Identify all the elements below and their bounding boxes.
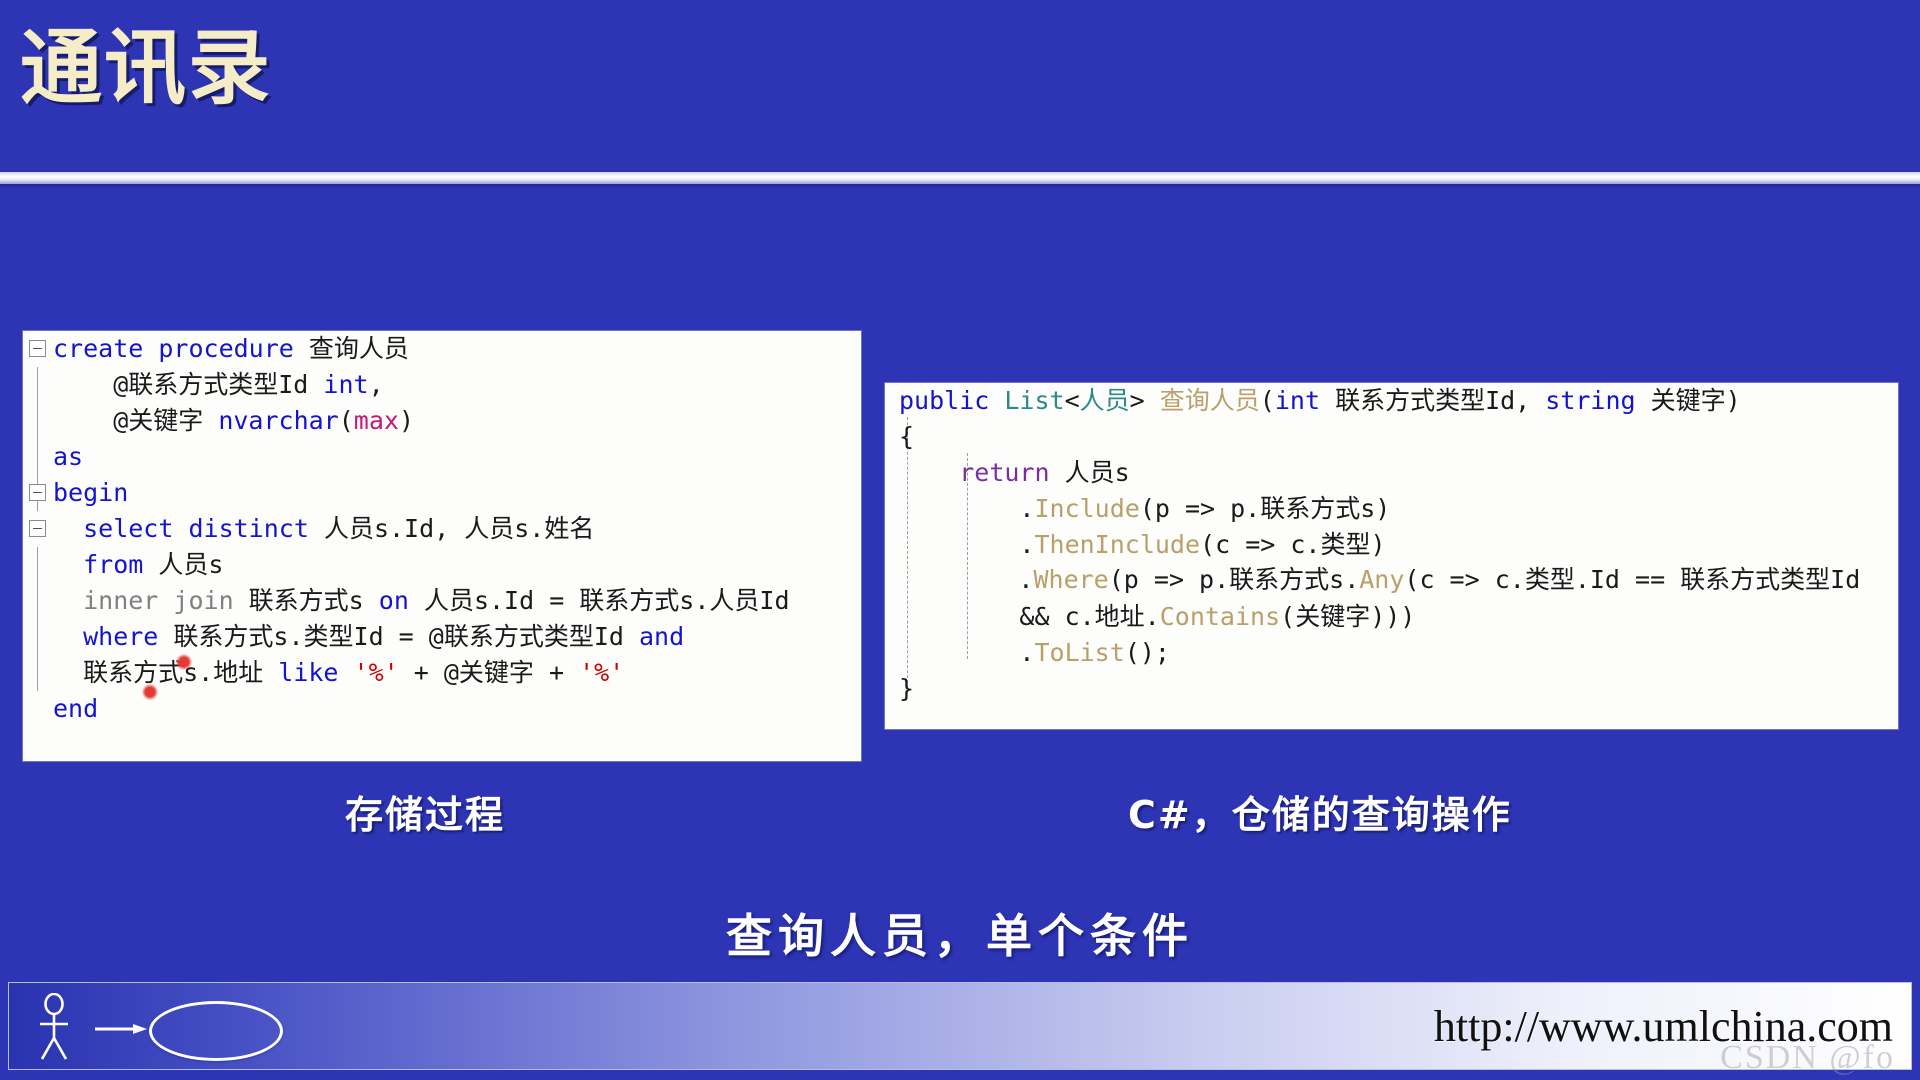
code-line: from 人员s [23, 547, 861, 583]
uml-actor-icon [31, 993, 91, 1061]
code-token: + @关键字 + [399, 658, 579, 687]
code-line: @联系方式类型Id int, [23, 367, 861, 403]
code-token: like [278, 658, 338, 687]
code-token: Contains [1160, 602, 1280, 631]
outline-guide-line [37, 583, 38, 619]
code-token: 人员 [1080, 386, 1130, 415]
outline-guide-line [37, 367, 38, 403]
code-token: (p => p.联系方式s) [1140, 494, 1391, 523]
code-token: (关键字))) [1280, 602, 1415, 631]
cursor-ink-mark [142, 684, 158, 700]
code-token: (c => c.类型.Id == 联系方式类型Id [1404, 565, 1860, 594]
code-token: 人员s.Id = 联系方式s.人员Id [409, 586, 790, 615]
code-token: max [354, 406, 399, 435]
code-line: .ThenInclude(c => c.类型) [885, 527, 1898, 563]
code-line: return 人员s [885, 455, 1898, 491]
code-token: (); [1125, 638, 1170, 667]
code-line: where 联系方式s.类型Id = @联系方式类型Id and [23, 619, 861, 655]
collapse-toggle-icon[interactable] [29, 520, 46, 537]
code-token: return [959, 458, 1049, 487]
code-token: 人员s [158, 550, 223, 579]
code-token: select distinct [53, 514, 324, 543]
code-token: 联系方式s [249, 586, 379, 615]
code-token: ) [399, 406, 414, 435]
outline-guide-line [37, 619, 38, 655]
code-token: 人员s.Id, 人员s.姓名 [324, 514, 594, 543]
code-line: .ToList(); [885, 635, 1898, 671]
code-token: string [1545, 386, 1635, 415]
code-token: 联系方式s.类型Id = @联系方式类型Id [158, 622, 639, 651]
code-token: . [898, 565, 1033, 594]
collapse-toggle-icon[interactable] [29, 340, 46, 357]
code-token: nvarchar [218, 406, 338, 435]
slide-subtitle: 查询人员，单个条件 [0, 900, 1920, 966]
code-token: begin [53, 478, 128, 507]
code-token: 联系方式类型Id, [1320, 386, 1545, 415]
code-token: 联系方式s.地址 [53, 658, 278, 687]
code-token: . [899, 530, 1034, 559]
code-token: Where [1033, 565, 1108, 594]
code-token: ( [1260, 386, 1275, 415]
code-line: begin [23, 475, 861, 511]
code-line: } [885, 671, 1898, 707]
code-token: on [379, 586, 409, 615]
code-token: end [53, 694, 98, 723]
code-line: inner join 联系方式s on 人员s.Id = 联系方式s.人员Id [23, 583, 861, 619]
association-arrow-icon [95, 1023, 147, 1035]
code-token: '%' [354, 658, 399, 687]
code-line: && c.地址.Contains(关键字))) [885, 599, 1898, 635]
code-token: Include [1034, 494, 1139, 523]
outline-guide-line [37, 547, 38, 583]
slide-header: 通讯录 [0, 0, 1920, 178]
code-line: @关键字 nvarchar(max) [23, 403, 861, 439]
code-line: as [23, 439, 861, 475]
outline-guide-line [37, 403, 38, 439]
code-token [899, 458, 959, 487]
code-token: Any [1359, 565, 1404, 594]
page-title: 通讯录 [20, 28, 272, 110]
code-token: int [1275, 386, 1320, 415]
title-divider [0, 172, 1920, 184]
code-token: 人员s [1050, 458, 1130, 487]
code-token: && c.地址. [899, 602, 1160, 631]
outline-guide-line [37, 655, 38, 691]
code-token: > [1130, 386, 1160, 415]
code-token: @关键字 [53, 406, 218, 435]
watermark-text: CSDN @fo [1720, 1039, 1895, 1077]
csharp-code-panel: public List<人员> 查询人员(int 联系方式类型Id, strin… [884, 382, 1899, 730]
code-token: ( [339, 406, 354, 435]
slide-footer: http://www.umlchina.com CSDN @fo [8, 982, 1912, 1070]
code-token: { [899, 422, 914, 451]
code-token: 查询人员 [309, 334, 409, 363]
presentation-slide: 通讯录 create procedure 查询人员 @联系方式类型Id int,… [0, 0, 1920, 1080]
collapse-toggle-icon[interactable] [29, 484, 46, 501]
code-token: . [899, 638, 1034, 667]
code-line: select distinct 人员s.Id, 人员s.姓名 [23, 511, 861, 547]
code-line: public List<人员> 查询人员(int 联系方式类型Id, strin… [885, 383, 1898, 419]
cursor-ink-mark [176, 654, 192, 670]
code-token: , [369, 370, 384, 399]
csharp-panel-caption: C#，仓储的查询操作 [1128, 784, 1512, 839]
uml-usecase-ellipse-icon [149, 1001, 283, 1061]
sql-panel-caption: 存储过程 [345, 784, 505, 839]
code-token: int [323, 370, 368, 399]
code-token: (p => p.联系方式s. [1109, 565, 1360, 594]
code-token: from [53, 550, 158, 579]
code-token [338, 658, 353, 687]
code-token: 查询人员 [1160, 386, 1260, 415]
code-token: } [899, 674, 914, 703]
code-token: 关键字) [1636, 386, 1741, 415]
code-token: ToList [1034, 638, 1124, 667]
code-token: ThenInclude [1034, 530, 1200, 559]
code-token: as [53, 442, 83, 471]
code-token: public [899, 386, 989, 415]
code-token: . [899, 494, 1034, 523]
code-token: where [53, 622, 158, 651]
code-token: (c => c.类型) [1200, 530, 1385, 559]
code-token: '%' [579, 658, 624, 687]
code-token: < [1065, 386, 1080, 415]
code-line: .Include(p => p.联系方式s) [885, 491, 1898, 527]
code-token: inner join [53, 586, 249, 615]
code-token: and [639, 622, 684, 651]
code-token: List [1004, 386, 1064, 415]
code-line: { [885, 419, 1898, 455]
outline-guide-line [37, 439, 38, 475]
code-line-overflow: .Where(p => p.联系方式s.Any(c => c.类型.Id == … [898, 562, 1860, 598]
code-token: create procedure [53, 334, 309, 363]
code-token: @联系方式类型Id [53, 370, 323, 399]
code-line: create procedure 查询人员 [23, 331, 861, 367]
code-token [989, 386, 1004, 415]
